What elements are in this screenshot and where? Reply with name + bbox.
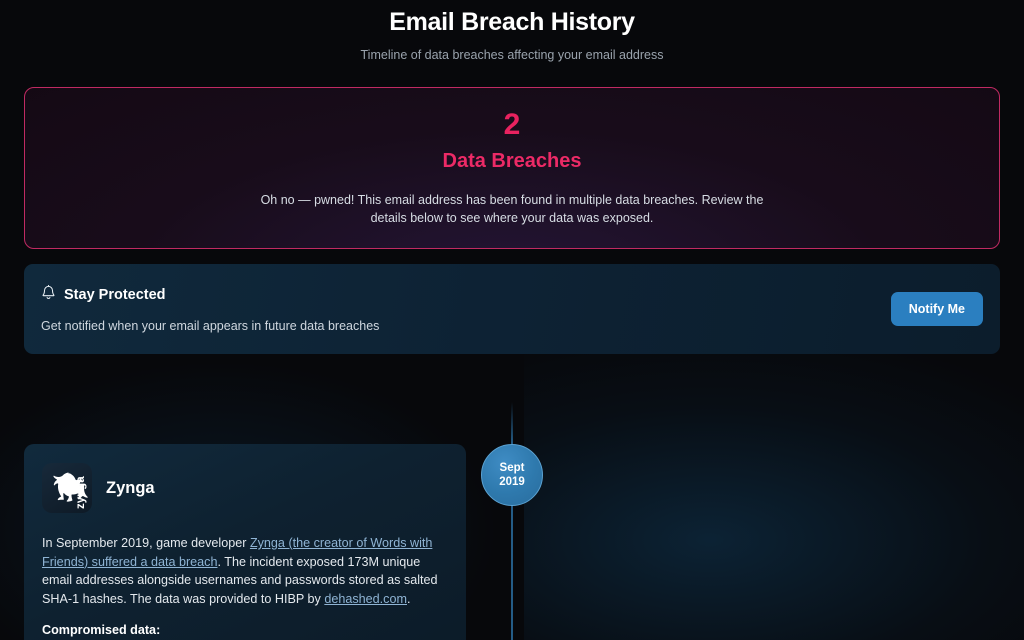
timeline-entry: zynga Zynga In September 2019, game deve… — [24, 402, 1000, 640]
breach-card-header: zynga Zynga — [42, 463, 448, 513]
breach-description-text-3: . — [407, 592, 411, 606]
compromised-data-label: Compromised data: — [42, 621, 448, 639]
breach-name: Zynga — [106, 478, 155, 498]
zynga-logo-icon: zynga — [42, 463, 92, 513]
stay-protected-title: Stay Protected — [64, 286, 166, 304]
page-header: Email Breach History Timeline of data br… — [24, 0, 1000, 63]
timeline-marker-month: Sept — [500, 461, 525, 475]
bell-icon — [41, 285, 56, 306]
breach-description-text-1: In September 2019, game developer — [42, 536, 250, 550]
stay-protected-card: Stay Protected Get notified when your em… — [24, 264, 1000, 354]
breach-count-label: Data Breaches — [443, 149, 582, 173]
page-root: Email Breach History Timeline of data br… — [0, 0, 1024, 640]
breach-count: 2 — [504, 109, 521, 141]
breach-summary-alert: 2 Data Breaches Oh no — pwned! This emai… — [24, 87, 1000, 249]
timeline-marker-sept-2019: Sept 2019 — [481, 444, 543, 506]
page-title: Email Breach History — [24, 8, 1000, 36]
breach-card-zynga[interactable]: zynga Zynga In September 2019, game deve… — [24, 444, 466, 640]
stay-protected-text: Stay Protected Get notified when your em… — [41, 285, 379, 334]
breach-description: In September 2019, game developer Zynga … — [42, 534, 448, 608]
breach-timeline: zynga Zynga In September 2019, game deve… — [24, 402, 1000, 640]
notify-me-button[interactable]: Notify Me — [891, 292, 983, 326]
stay-protected-subtitle: Get notified when your email appears in … — [41, 318, 379, 334]
page-subtitle: Timeline of data breaches affecting your… — [24, 47, 1000, 63]
breach-alert-description: Oh no — pwned! This email address has be… — [252, 191, 772, 227]
stay-protected-title-row: Stay Protected — [41, 285, 379, 306]
breach-provider-link[interactable]: dehashed.com — [324, 592, 407, 606]
svg-text:zynga: zynga — [75, 476, 87, 509]
timeline-marker-year: 2019 — [499, 475, 525, 489]
